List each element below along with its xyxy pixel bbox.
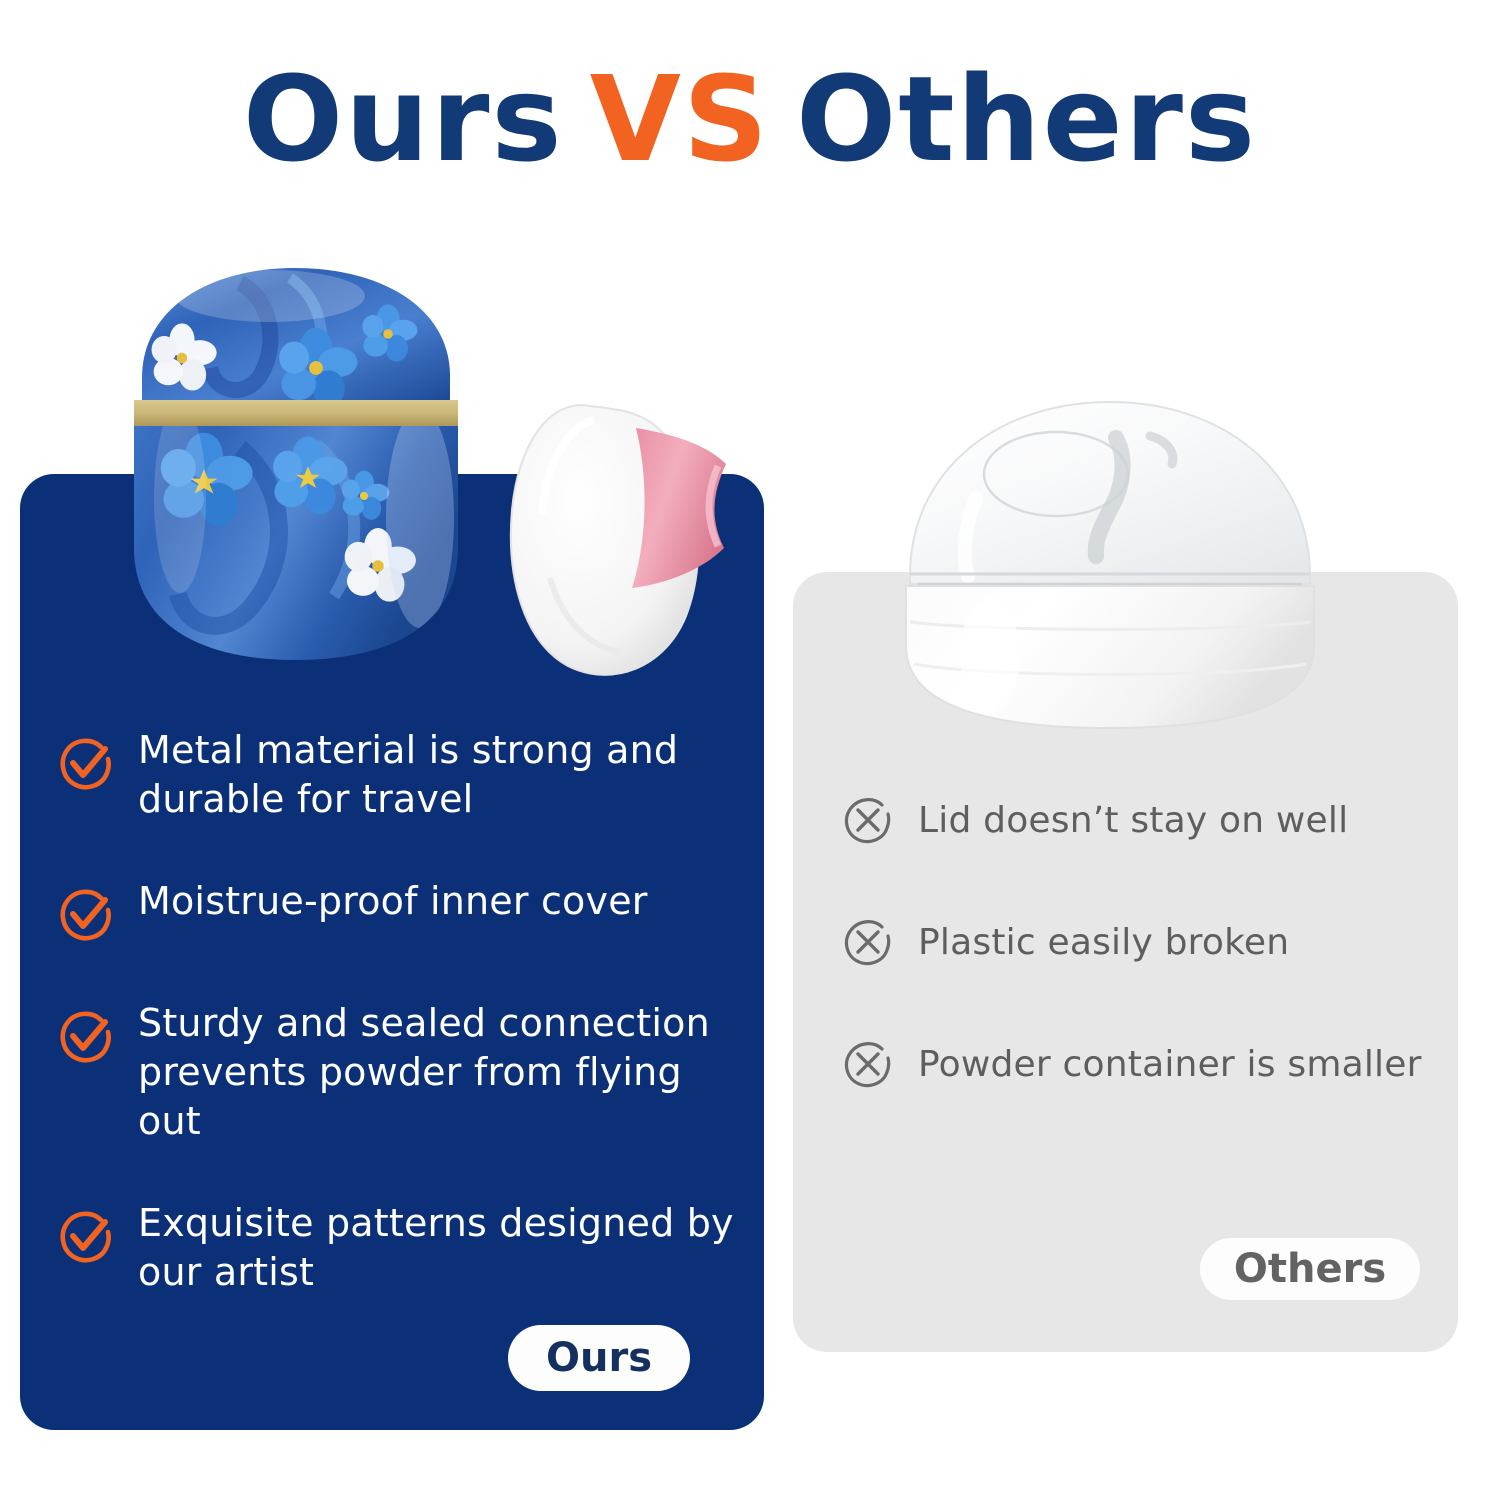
feature-item: Moistrue-proof inner cover (54, 877, 754, 945)
title-others-word: Others (796, 50, 1257, 188)
x-circle-icon (840, 792, 896, 848)
clear-dome-lid (910, 402, 1310, 584)
drawback-label: Plastic easily broken (918, 920, 1289, 965)
feature-label: Exquisite patterns designed by our artis… (138, 1199, 748, 1296)
tin-lid (142, 268, 450, 407)
others-drawback-list: Lid doesn’t stay on well Plastic easily … (840, 792, 1460, 1092)
title-vs-word: VS (590, 50, 770, 188)
drawback-label: Lid doesn’t stay on well (918, 798, 1348, 843)
x-circle-icon (840, 914, 896, 970)
page-title: OursVSOthers (0, 58, 1500, 182)
feature-item: Exquisite patterns designed by our artis… (54, 1199, 754, 1296)
feature-label: Metal material is strong and durable for… (138, 726, 748, 823)
check-circle-icon (54, 1205, 116, 1267)
drawback-label: Powder container is smaller (918, 1042, 1422, 1087)
ours-feature-list: Metal material is strong and durable for… (54, 726, 754, 1296)
others-badge-label: Others (1234, 1246, 1386, 1292)
ours-badge-label: Ours (546, 1335, 652, 1381)
others-badge: Others (1200, 1238, 1420, 1300)
drawback-item: Plastic easily broken (840, 914, 1460, 970)
drawback-item: Powder container is smaller (840, 1036, 1460, 1092)
x-circle-icon (840, 1036, 896, 1092)
check-circle-icon (54, 1005, 116, 1067)
puff-pink-handle (632, 428, 726, 588)
title-ours-word: Ours (243, 50, 564, 188)
feature-item: Metal material is strong and durable for… (54, 726, 754, 823)
others-product-image (880, 378, 1340, 740)
plastic-base (906, 586, 1314, 728)
drawback-item: Lid doesn’t stay on well (840, 792, 1460, 848)
tin-body (134, 403, 458, 660)
tin-gold-band (134, 400, 458, 428)
check-circle-icon (54, 732, 116, 794)
feature-label: Sturdy and sealed connection prevents po… (138, 999, 748, 1145)
comparison-infographic: OursVSOthers (0, 0, 1500, 1500)
check-circle-icon (54, 883, 116, 945)
feature-label: Moistrue-proof inner cover (138, 877, 648, 926)
ours-product-image (120, 248, 740, 678)
ours-badge: Ours (508, 1325, 690, 1391)
feature-item: Sturdy and sealed connection prevents po… (54, 999, 754, 1145)
